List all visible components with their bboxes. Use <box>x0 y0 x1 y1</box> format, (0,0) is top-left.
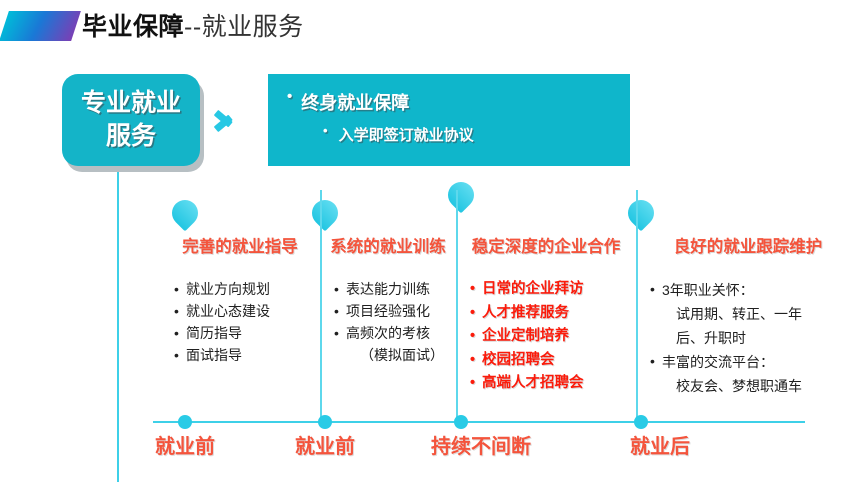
timeline-label-1: 就业前 <box>155 434 215 460</box>
bullet-dot-icon: • <box>650 350 662 372</box>
list-item-label: 高频次的考核 <box>346 322 456 344</box>
list-item: •校园招聘会 <box>470 349 636 373</box>
list-item-label: 校友会、梦想职通车 <box>676 374 860 398</box>
vertical-spine-line <box>117 172 119 482</box>
list-item: •简历指导 <box>174 322 320 344</box>
list-item-sub: 试用期、转正、一年 <box>650 302 860 326</box>
list-item-label: 校园招聘会 <box>482 349 636 373</box>
bullet-dot-icon: • <box>334 300 346 322</box>
page-title: 毕业保障--就业服务 <box>82 12 304 42</box>
slide-canvas: 毕业保障--就业服务 专业就业 服务 • 终身就业保障 • 入学即签订就业协议 … <box>0 0 868 485</box>
list-item-label: 高端人才招聘会 <box>482 372 636 396</box>
service-column-employment-training: 系统的就业训练 •表达能力训练 •项目经验强化 •高频次的考核 （模拟面试） <box>320 236 456 421</box>
list-item: •3年职业关怀： <box>650 278 860 302</box>
list-item-label: 后、升职时 <box>676 326 860 350</box>
list-item: •就业心态建设 <box>174 300 320 322</box>
list-item-label: 面试指导 <box>186 344 320 366</box>
list-item: •高端人才招聘会 <box>470 372 636 396</box>
list-item: •面试指导 <box>174 344 320 366</box>
list-item-sub: （模拟面试） <box>334 344 456 366</box>
service-column-employment-guidance: 完善的就业指导 •就业方向规划 •就业心态建设 •简历指导 •面试指导 <box>160 236 320 421</box>
list-item: •丰富的交流平台： <box>650 350 860 374</box>
badge-line-2: 服务 <box>106 120 156 153</box>
banner-item-secondary-label: 入学即签订就业协议 <box>339 124 474 145</box>
list-item-label: 项目经验强化 <box>346 300 456 322</box>
list-item: •高频次的考核 <box>334 322 456 344</box>
list-item-sub: 后、升职时 <box>650 326 860 350</box>
bullet-dot-icon: • <box>174 322 186 344</box>
bullet-dot-icon: • <box>287 89 292 104</box>
bullet-dot-icon: • <box>174 344 186 366</box>
list-item: •项目经验强化 <box>334 300 456 322</box>
service-column-followup-maintenance: 良好的就业跟踪维护 •3年职业关怀： 试用期、转正、一年 后、升职时 •丰富的交… <box>636 236 860 421</box>
column-heading-3: 稳定深度的企业合作 <box>456 236 636 258</box>
bullet-dot-icon: • <box>470 372 482 394</box>
timeline-label-3: 持续不间断 <box>431 434 531 460</box>
bullet-dot-icon: • <box>323 124 328 137</box>
map-pin-icon-1 <box>172 200 198 241</box>
column-heading-1: 完善的就业指导 <box>160 236 320 258</box>
list-item-label: 人才推荐服务 <box>482 302 636 326</box>
bullet-dot-icon: • <box>650 278 662 300</box>
column-divider-2 <box>456 190 458 421</box>
list-item: •就业方向规划 <box>174 278 320 300</box>
chevron-right-icon <box>214 103 240 139</box>
timeline-dot-3 <box>454 415 468 429</box>
bullet-dot-icon: • <box>174 278 186 300</box>
bullet-dot-icon: • <box>470 302 482 324</box>
list-item: •人才推荐服务 <box>470 302 636 326</box>
list-item-label: 试用期、转正、一年 <box>676 302 860 326</box>
list-item-sub: 校友会、梦想职通车 <box>650 374 860 398</box>
banner-item-primary-label: 终身就业保障 <box>301 89 409 115</box>
column-body-1: •就业方向规划 •就业心态建设 •简历指导 •面试指导 <box>160 278 320 366</box>
professional-service-badge[interactable]: 专业就业 服务 <box>62 74 200 166</box>
column-body-2: •表达能力训练 •项目经验强化 •高频次的考核 （模拟面试） <box>320 278 456 366</box>
column-body-4: •3年职业关怀： 试用期、转正、一年 后、升职时 •丰富的交流平台： 校友会、梦… <box>636 278 860 398</box>
timeline-dot-2 <box>318 415 332 429</box>
banner-item-secondary: • 入学即签订就业协议 <box>323 124 630 145</box>
bullet-dot-icon: • <box>174 300 186 322</box>
column-divider-1 <box>320 190 322 421</box>
service-columns: 完善的就业指导 •就业方向规划 •就业心态建设 •简历指导 •面试指导 系统的就… <box>160 236 860 421</box>
bullet-dot-icon: • <box>334 278 346 300</box>
column-heading-4: 良好的就业跟踪维护 <box>636 236 860 258</box>
map-pin-icon-2 <box>312 200 338 241</box>
column-heading-2: 系统的就业训练 <box>320 236 456 258</box>
timeline-label-4: 就业后 <box>630 434 690 460</box>
timeline-axis <box>153 421 805 423</box>
list-item: •企业定制培养 <box>470 325 636 349</box>
list-item-label: 就业方向规划 <box>186 278 320 300</box>
bullet-dot-icon: • <box>334 322 346 344</box>
service-column-enterprise-cooperation: 稳定深度的企业合作 •日常的企业拜访 •人才推荐服务 •企业定制培养 •校园招聘… <box>456 236 636 421</box>
page-title-light: --就业服务 <box>184 13 304 41</box>
list-item-label: 表达能力训练 <box>346 278 456 300</box>
column-list-2: •表达能力训练 •项目经验强化 •高频次的考核 （模拟面试） <box>334 278 456 366</box>
timeline-label-2: 就业前 <box>295 434 355 460</box>
column-list-3: •日常的企业拜访 •人才推荐服务 •企业定制培养 •校园招聘会 •高端人才招聘会 <box>470 278 636 396</box>
list-item-label: 3年职业关怀： <box>662 278 860 302</box>
map-pin-icon-4 <box>628 200 654 241</box>
bullet-dot-icon: • <box>470 278 482 300</box>
timeline-dot-1 <box>178 415 192 429</box>
list-item-label: 企业定制培养 <box>482 325 636 349</box>
page-title-strong: 毕业保障 <box>82 13 184 41</box>
guarantee-banner: • 终身就业保障 • 入学即签订就业协议 <box>268 74 630 166</box>
list-item-label: 简历指导 <box>186 322 320 344</box>
title-accent-shape <box>0 11 81 41</box>
timeline-dot-4 <box>634 415 648 429</box>
list-item: •表达能力训练 <box>334 278 456 300</box>
column-body-3: •日常的企业拜访 •人才推荐服务 •企业定制培养 •校园招聘会 •高端人才招聘会 <box>456 278 636 396</box>
banner-item-primary: • 终身就业保障 <box>287 89 630 115</box>
map-pin-icon-3 <box>448 182 474 223</box>
badge-line-1: 专业就业 <box>81 87 181 120</box>
column-divider-3 <box>636 190 638 421</box>
column-list-1: •就业方向规划 •就业心态建设 •简历指导 •面试指导 <box>174 278 320 366</box>
bullet-dot-icon: • <box>470 325 482 347</box>
column-list-4: •3年职业关怀： 试用期、转正、一年 后、升职时 •丰富的交流平台： 校友会、梦… <box>650 278 860 398</box>
list-item-label: 丰富的交流平台： <box>662 350 860 374</box>
list-item-label: 日常的企业拜访 <box>482 278 636 302</box>
list-item-label: 就业心态建设 <box>186 300 320 322</box>
list-item-label: （模拟面试） <box>360 344 456 366</box>
list-item: •日常的企业拜访 <box>470 278 636 302</box>
bullet-dot-icon: • <box>470 349 482 371</box>
